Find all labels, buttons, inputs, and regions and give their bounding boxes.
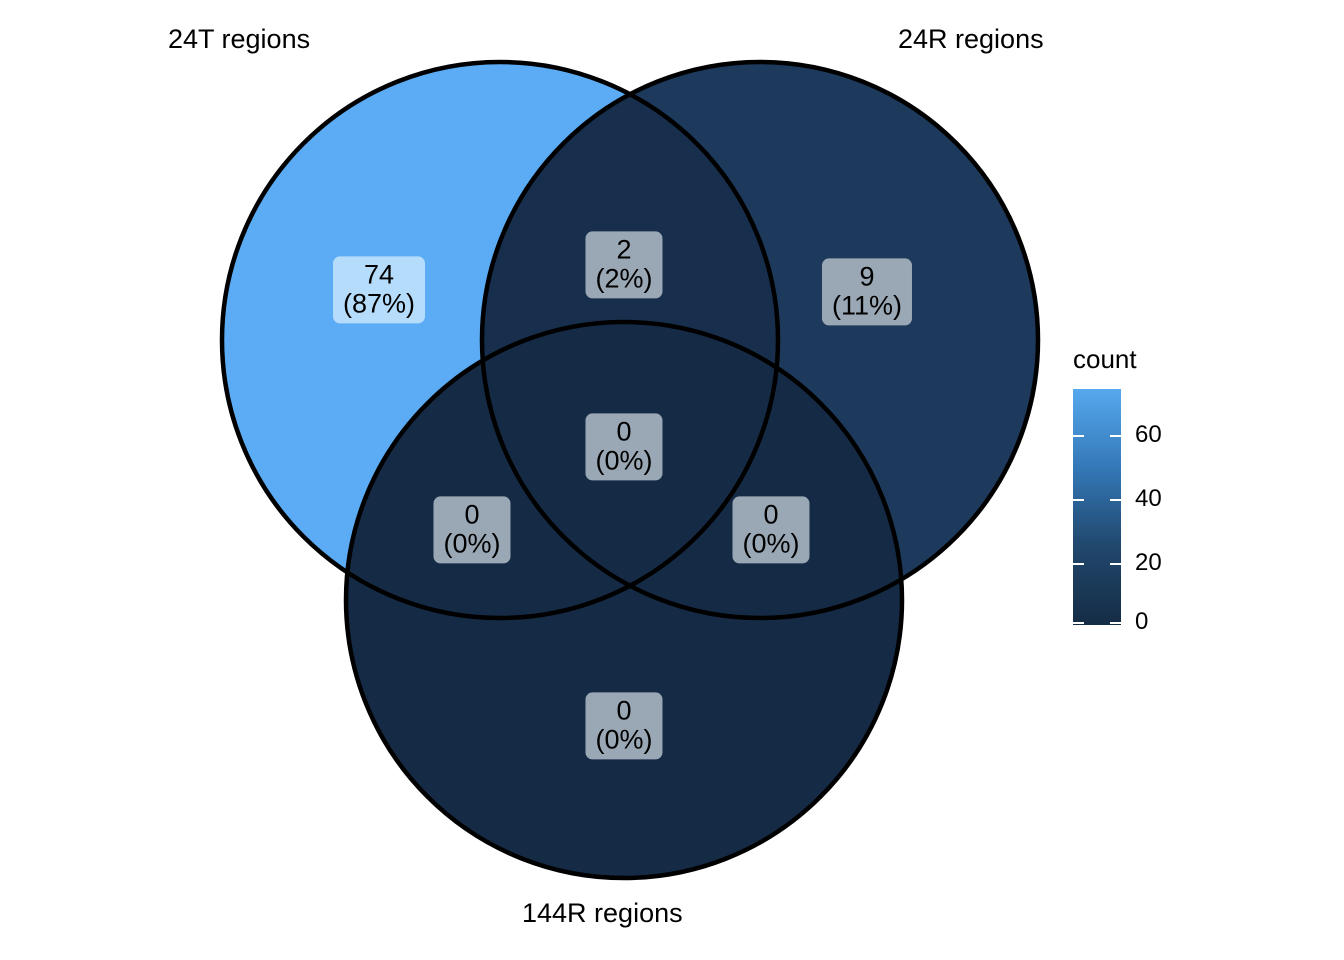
legend-title: count [1073, 344, 1273, 375]
legend-tick-mark-0-left [1073, 622, 1084, 624]
region-count-c-only: 0 [595, 696, 652, 725]
legend: count 60 40 20 0 [1073, 344, 1273, 625]
legend-tick-mark-40-right [1110, 499, 1121, 501]
region-percent-bc: (0%) [742, 529, 799, 558]
legend-tick-label-40: 40 [1135, 485, 1162, 513]
region-label-a-only: 74 (87%) [333, 256, 425, 323]
region-count-ac: 0 [443, 500, 500, 529]
legend-tick-mark-20-right [1110, 563, 1121, 565]
region-percent-abc: (0%) [595, 446, 652, 475]
region-label-abc: 0 (0%) [585, 413, 662, 480]
region-label-ac: 0 (0%) [433, 496, 510, 563]
legend-tick-label-20: 20 [1135, 549, 1162, 577]
region-count-b-only: 9 [832, 262, 902, 291]
legend-tick-mark-40-left [1073, 499, 1084, 501]
legend-colorbar-wrap: 60 40 20 0 [1073, 389, 1121, 625]
legend-tick-mark-60-left [1073, 435, 1084, 437]
region-label-bc: 0 (0%) [732, 496, 809, 563]
venn-diagram: 24T regions 24R regions 144R regions 74 … [0, 0, 1344, 960]
legend-tick-mark-60-right [1110, 435, 1121, 437]
region-percent-c-only: (0%) [595, 725, 652, 754]
region-count-a-only: 74 [343, 260, 415, 289]
region-label-ab: 2 (2%) [585, 231, 662, 298]
region-percent-b-only: (11%) [832, 291, 902, 320]
legend-tick-label-0: 0 [1135, 608, 1148, 636]
region-percent-a-only: (87%) [343, 289, 415, 318]
set-label-24r: 24R regions [898, 24, 1044, 55]
legend-tick-mark-20-left [1073, 563, 1084, 565]
region-count-abc: 0 [595, 417, 652, 446]
region-count-ab: 2 [595, 235, 652, 264]
region-percent-ac: (0%) [443, 529, 500, 558]
set-label-144r: 144R regions [522, 898, 683, 929]
region-count-bc: 0 [742, 500, 799, 529]
legend-tick-mark-0-right [1110, 622, 1121, 624]
region-percent-ab: (2%) [595, 264, 652, 293]
legend-colorbar [1073, 389, 1121, 625]
legend-tick-label-60: 60 [1135, 421, 1162, 449]
region-label-b-only: 9 (11%) [822, 258, 912, 325]
set-label-24t: 24T regions [168, 24, 310, 55]
region-label-c-only: 0 (0%) [585, 692, 662, 759]
